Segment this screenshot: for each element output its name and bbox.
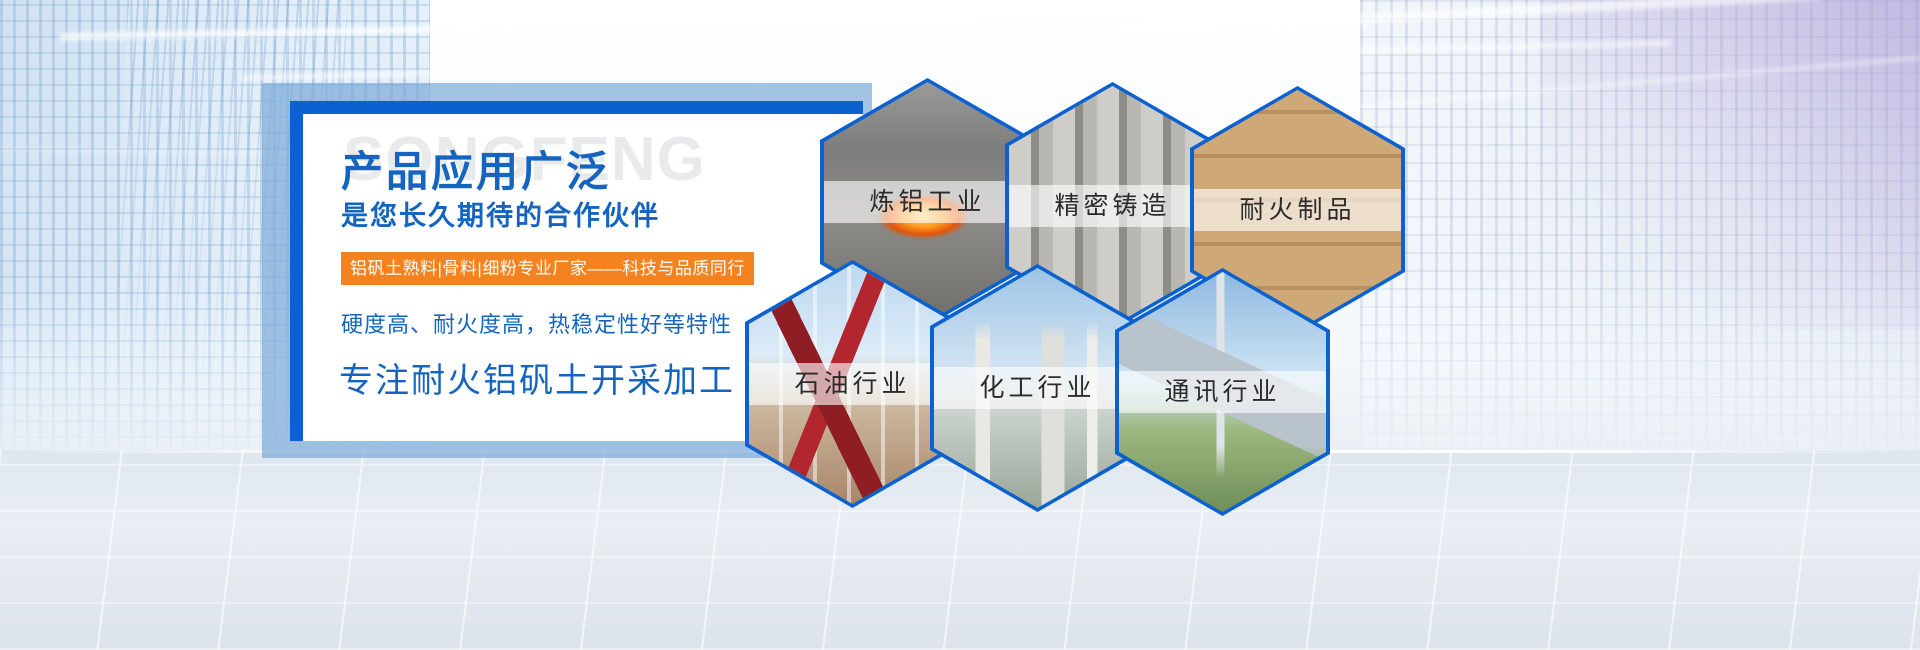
headline: 产品应用广泛 xyxy=(341,138,611,199)
promo-banner: SONGFENG 产品应用广泛 是您长久期待的合作伙伴 铝矾土熟料|骨料|细粉专… xyxy=(0,0,1920,650)
hex-label: 耐火制品 xyxy=(1194,189,1401,231)
background-violet-glow xyxy=(1540,0,1920,330)
hex-label: 精密铸造 xyxy=(1009,185,1216,227)
hex-label: 化工行业 xyxy=(934,367,1141,409)
subheadline: 是您长久期待的合作伙伴 xyxy=(341,194,660,233)
hex-label: 通讯行业 xyxy=(1119,371,1326,413)
feature-line: 硬度高、耐火度高，热稳定性好等特性 xyxy=(341,307,732,339)
application-hexagon-grid: 炼铝工业 精密铸造 耐火制品 石油行业 化工行业 xyxy=(820,78,1520,578)
focus-line: 专注耐火铝矾土开采加工 xyxy=(339,353,735,402)
hex-label: 石油行业 xyxy=(749,363,956,405)
tagline-badge: 铝矾土熟料|骨料|细粉专业厂家——科技与品质同行 xyxy=(341,252,754,285)
hex-label: 炼铝工业 xyxy=(824,181,1031,223)
